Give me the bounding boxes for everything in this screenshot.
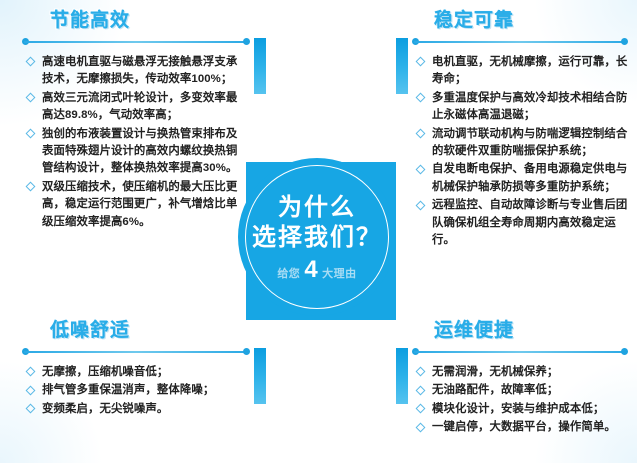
list-item: 流动调节联动机构与防喘逻辑控制结合的软硬件双重防喘振保护系统； [416, 126, 628, 161]
list-item-text: 高速电机直驱与磁悬浮无接触悬浮支承技术，无摩擦损失，传动效率100%； [42, 56, 237, 85]
badge-headline-1: 为什么 [278, 193, 356, 223]
panel-divider [396, 37, 636, 47]
list-item-text: 高效三元流闭式叶轮设计，多变效率最高达89.8%，气动效率高； [42, 92, 237, 121]
list-item-text: 双级压缩技术，使压缩机的最大压比更高，稳定运行范围更广，补气增焓比单级压缩效率提… [42, 181, 237, 228]
divider-dot-end-icon [243, 348, 250, 355]
diamond-bullet-icon [416, 200, 426, 210]
list-item-text: 电机直驱，无机械摩擦，运行可靠，长寿命； [432, 56, 627, 85]
list-item-text: 自发电断电保护、备用电源稳定供电与机械保护轴承防损等多重防护系统； [432, 163, 627, 192]
list-item: 双级压缩技术，使压缩机的最大压比更高，稳定运行范围更广，补气增焓比单级压缩效率提… [26, 179, 244, 231]
badge-sub-suffix: 大理由 [322, 265, 357, 281]
divider-dot-end-icon [243, 38, 250, 45]
list-item-text: 无油路配件，故障率低； [432, 384, 558, 396]
list-item: 电机直驱，无机械摩擦，运行可靠，长寿命； [416, 54, 628, 89]
panel-divider [14, 347, 266, 357]
list-item: 模块化设计，安装与维护成本低； [416, 401, 628, 418]
divider-line [414, 41, 626, 43]
list-item: 无摩擦，压缩机噪音低； [26, 364, 244, 381]
list-item: 无油路配件，故障率低； [416, 382, 628, 399]
accent-bar [396, 348, 408, 404]
list-item: 独创的布液装置设计与换热管束排布及表面特殊翅片设计的高效内螺纹换热铜管结构设计，… [26, 126, 244, 178]
panel-header: 稳定可靠 [396, 8, 636, 36]
panel-header: 节能高效 [14, 8, 266, 36]
list-item-text: 远程监控、自动故障诊断与专业售后团队确保机组全寿命周期内高效稳定运行。 [432, 199, 627, 246]
list-item: 变频柔启，无尖锐噪声。 [26, 401, 244, 418]
divider-dot-end-icon [621, 38, 628, 45]
list-item-text: 无摩擦，压缩机噪音低； [42, 366, 168, 378]
divider-line [24, 351, 248, 353]
badge-sub-prefix: 给您 [277, 265, 300, 281]
list-item: 多重温度保护与高效冷却技术相结合防止永磁体高温退磁； [416, 90, 628, 125]
panel-title: 稳定可靠 [434, 8, 514, 34]
bullet-list: 无摩擦，压缩机噪音低； 排气管多重保温消声，整体降噪； 变频柔启，无尖锐噪声。 [14, 364, 266, 418]
diamond-bullet-icon [416, 128, 426, 138]
list-item: 排气管多重保温消声，整体降噪； [26, 382, 244, 399]
diamond-bullet-icon [26, 404, 36, 414]
list-item: 自发电断电保护、备用电源稳定供电与机械保护轴承防损等多重防护系统； [416, 161, 628, 196]
accent-bar [254, 348, 266, 404]
bullet-list: 电机直驱，无机械摩擦，运行可靠，长寿命； 多重温度保护与高效冷却技术相结合防止永… [396, 54, 636, 249]
panel-header: 低噪舒适 [14, 318, 266, 346]
bullet-list: 高速电机直驱与磁悬浮无接触悬浮支承技术，无摩擦损失，传动效率100%； 高效三元… [14, 54, 266, 231]
panel-header: 运维便捷 [396, 318, 636, 346]
badge-subline: 给您 4 大理由 [277, 258, 356, 282]
badge-text-group: 为什么 选择我们？ 给您 4 大理由 [238, 158, 396, 316]
panel-title: 节能高效 [50, 8, 130, 34]
list-item: 无需润滑，无机械保养； [416, 364, 628, 381]
list-item-text: 变频柔启，无尖锐噪声。 [42, 403, 168, 415]
diamond-bullet-icon [416, 385, 426, 395]
panel-low-noise-comfort: 低噪舒适 无摩擦，压缩机噪音低； 排气管多重保温消声，整体降噪； 变频柔启，无尖… [14, 318, 266, 458]
list-item: 远程监控、自动故障诊断与专业售后团队确保机组全寿命周期内高效稳定运行。 [416, 197, 628, 249]
panel-divider [396, 347, 636, 357]
diamond-bullet-icon [26, 128, 36, 138]
accent-bar [254, 38, 266, 94]
center-badge: 为什么 选择我们？ 给您 4 大理由 [238, 158, 396, 320]
list-item-text: 流动调节联动机构与防喘逻辑控制结合的软硬件双重防喘振保护系统； [432, 128, 627, 157]
poster-canvas: 节能高效 高速电机直驱与磁悬浮无接触悬浮支承技术，无摩擦损失，传动效率100%；… [0, 0, 637, 463]
list-item-text: 独创的布液装置设计与换热管束排布及表面特殊翅片设计的高效内螺纹换热铜管结构设计，… [42, 128, 237, 175]
diamond-bullet-icon [416, 422, 426, 432]
panel-stable-reliable: 稳定可靠 电机直驱，无机械摩擦，运行可靠，长寿命； 多重温度保护与高效冷却技术相… [396, 8, 636, 318]
list-item: 高速电机直驱与磁悬浮无接触悬浮支承技术，无摩擦损失，传动效率100%； [26, 54, 244, 89]
diamond-bullet-icon [416, 367, 426, 377]
list-item-text: 多重温度保护与高效冷却技术相结合防止永磁体高温退磁； [432, 92, 627, 121]
diamond-bullet-icon [416, 93, 426, 103]
list-item-text: 模块化设计，安装与维护成本低； [432, 403, 604, 415]
bullet-list: 无需润滑，无机械保养； 无油路配件，故障率低； 模块化设计，安装与维护成本低； … [396, 364, 636, 437]
diamond-bullet-icon [416, 164, 426, 174]
panel-energy-efficient: 节能高效 高速电机直驱与磁悬浮无接触悬浮支承技术，无摩擦损失，传动效率100%；… [14, 8, 266, 318]
divider-line [414, 351, 626, 353]
diamond-bullet-icon [26, 57, 36, 67]
panel-title: 低噪舒适 [50, 318, 130, 344]
diamond-bullet-icon [26, 385, 36, 395]
list-item: 高效三元流闭式叶轮设计，多变效率最高达89.8%，气动效率高； [26, 90, 244, 125]
panel-divider [14, 37, 266, 47]
badge-sub-number: 4 [304, 258, 318, 282]
panel-easy-maintenance: 运维便捷 无需润滑，无机械保养； 无油路配件，故障率低； 模块化设计，安装与维护… [396, 318, 636, 458]
diamond-bullet-icon [26, 367, 36, 377]
diamond-bullet-icon [416, 404, 426, 414]
badge-headline-2: 选择我们？ [252, 223, 382, 253]
list-item-text: 排气管多重保温消声，整体降噪； [42, 384, 214, 396]
divider-dot-end-icon [621, 348, 628, 355]
list-item-text: 一键启停，大数据平台，操作简单。 [432, 421, 616, 433]
divider-line [24, 41, 248, 43]
panel-title: 运维便捷 [434, 318, 514, 344]
diamond-bullet-icon [26, 93, 36, 103]
list-item-text: 无需润滑，无机械保养； [432, 366, 558, 378]
accent-bar [396, 38, 408, 94]
diamond-bullet-icon [416, 57, 426, 67]
list-item: 一键启停，大数据平台，操作简单。 [416, 419, 628, 436]
diamond-bullet-icon [26, 182, 36, 192]
